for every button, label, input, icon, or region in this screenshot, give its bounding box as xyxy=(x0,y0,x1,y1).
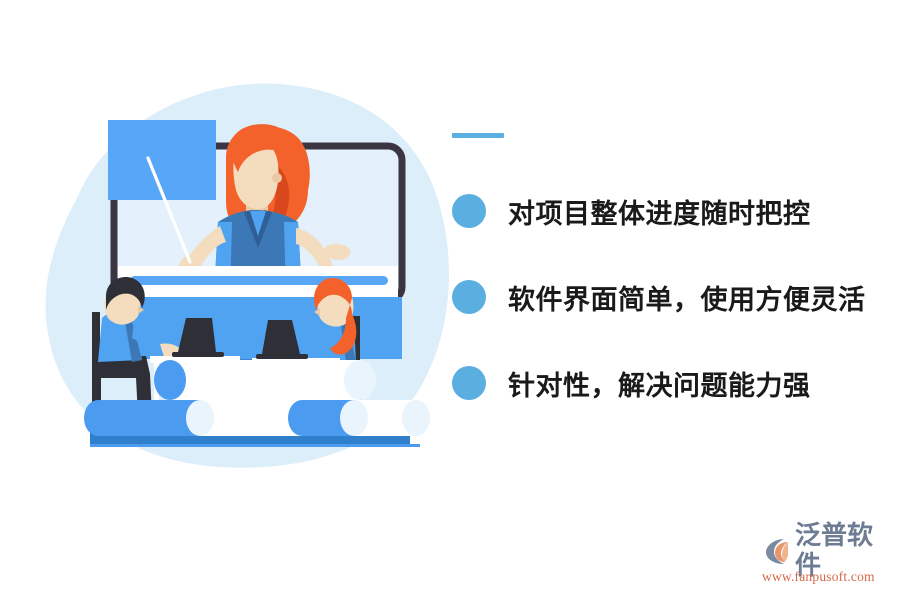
bullet-dot-icon xyxy=(452,280,486,314)
online-classroom-illustration xyxy=(40,70,460,470)
roll-right-cap xyxy=(288,400,316,436)
roll-right-white-cap xyxy=(340,400,368,436)
list-item-label: 对项目整体进度随时把控 xyxy=(508,192,811,231)
list-item[interactable]: 对项目整体进度随时把控 xyxy=(452,168,882,254)
bullet-dot-icon xyxy=(452,194,486,228)
roll-back-cap-left xyxy=(154,360,186,400)
bullet-dot-icon xyxy=(452,366,486,400)
progress-bar-track xyxy=(130,276,388,285)
fanpu-logo-icon xyxy=(762,536,792,566)
list-item[interactable]: 针对性，解决问题能力强 xyxy=(452,340,882,426)
list-item[interactable]: 软件界面简单，使用方便灵活 xyxy=(452,254,882,340)
paper-rolls-front xyxy=(84,400,430,447)
laptop-left-base xyxy=(172,352,224,357)
brand-watermark: 泛普软件 www.fanpusoft.com xyxy=(762,534,892,590)
roll-left-white-cap xyxy=(186,400,214,436)
page-root: 对项目整体进度随时把控 软件界面简单，使用方便灵活 针对性，解决问题能力强 泛普… xyxy=(0,0,900,600)
roll-back-cap xyxy=(344,360,376,400)
paper-rolls-back xyxy=(154,360,376,400)
list-item-label: 针对性，解决问题能力强 xyxy=(508,364,811,403)
list-item-label: 软件界面简单，使用方便灵活 xyxy=(508,278,866,317)
roll-base-line xyxy=(90,444,420,447)
laptop-right-base xyxy=(256,354,308,359)
feature-list: 对项目整体进度随时把控 软件界面简单，使用方便灵活 针对性，解决问题能力强 xyxy=(452,168,882,426)
brand-url: www.fanpusoft.com xyxy=(762,569,892,585)
roll-right-end-cap xyxy=(402,400,430,436)
teacher-ear xyxy=(272,173,282,183)
accent-line xyxy=(452,133,504,138)
whiteboard xyxy=(108,120,216,200)
roll-left-cap xyxy=(84,400,112,436)
brand-logo-row: 泛普软件 xyxy=(762,534,892,568)
roll-back-body xyxy=(170,360,360,400)
